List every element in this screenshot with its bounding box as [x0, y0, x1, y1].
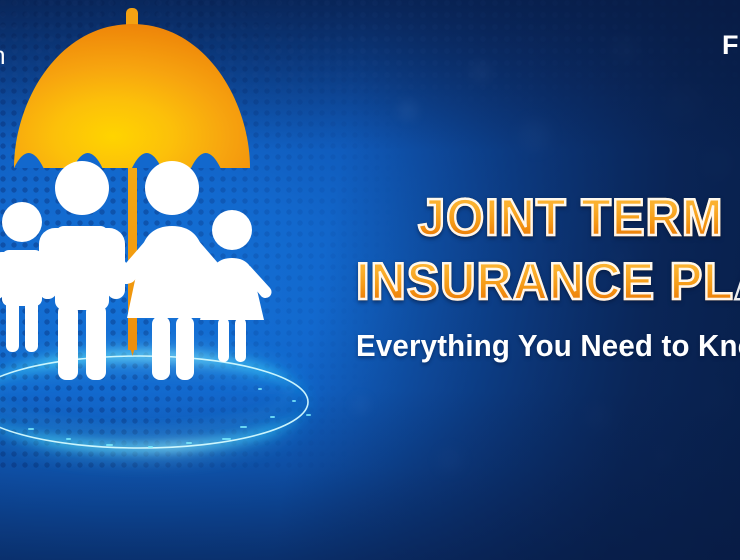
figure-child-girl — [192, 210, 271, 362]
headline-line-1: JOINT TERM — [418, 186, 738, 250]
subtitle: Everything You Need to Know — [356, 327, 740, 365]
umbrella-canopy — [14, 8, 250, 176]
figure-adult-man — [33, 161, 134, 380]
family-umbrella-illustration — [0, 0, 320, 470]
headline-block: JOINT TERM INSURANCE PLAN — [418, 186, 740, 314]
brand-logo-text: FI — [722, 30, 740, 61]
site-url-text: o.in — [0, 42, 6, 71]
headline-line-2: INSURANCE PLAN — [356, 250, 734, 314]
insurance-banner: JOINT TERM INSURANCE PLAN Everything You… — [0, 0, 740, 560]
